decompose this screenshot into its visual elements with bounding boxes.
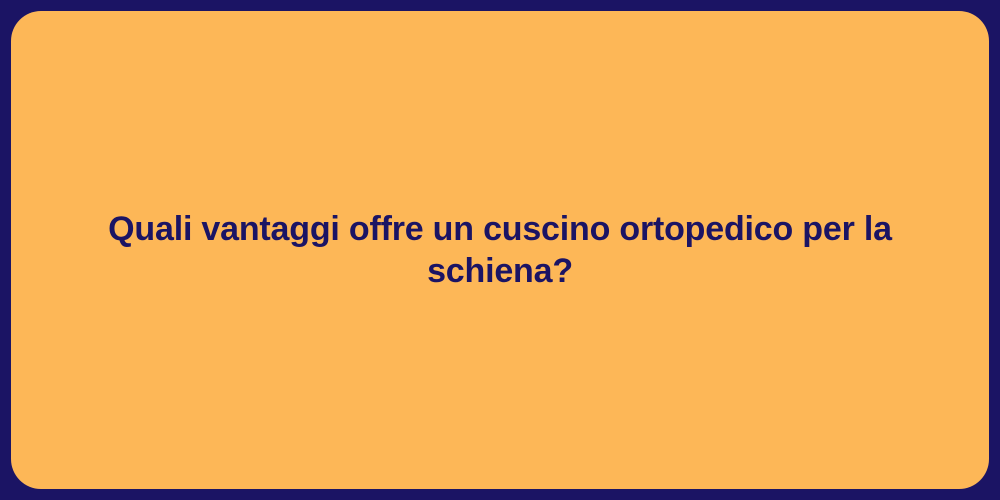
card-frame: Quali vantaggi offre un cuscino ortopedi… xyxy=(0,0,1000,500)
page-title: Quali vantaggi offre un cuscino ortopedi… xyxy=(51,208,949,293)
card-panel: Quali vantaggi offre un cuscino ortopedi… xyxy=(11,11,989,489)
